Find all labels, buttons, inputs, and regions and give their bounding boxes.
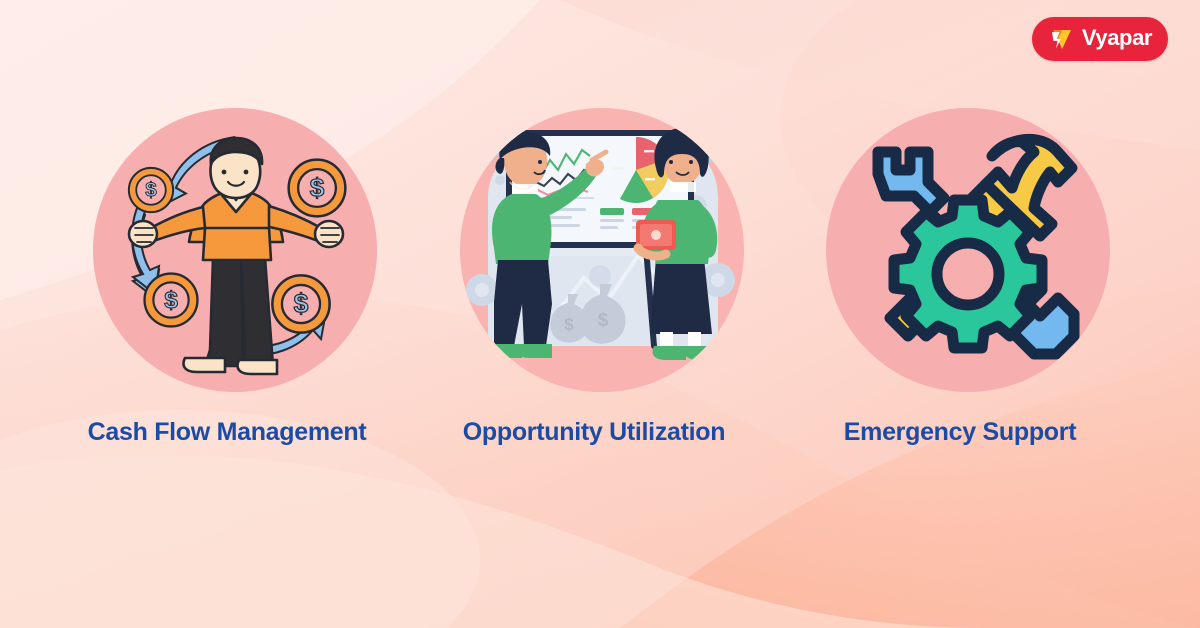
svg-text:$: $ [598, 310, 609, 331]
illustration-circle-opportunity: $ $ [460, 108, 744, 392]
vyapar-logo-text: Vyapar [1082, 27, 1152, 51]
gear-center-icon [894, 200, 1042, 348]
coin-top-right [289, 160, 346, 217]
illustration-circle-emergency [826, 108, 1110, 392]
feature-label-opportunity-utilization: Opportunity Utilization [452, 418, 736, 447]
gear-decor-left [466, 274, 498, 306]
feature-label-emergency-support: Emergency Support [818, 418, 1102, 447]
svg-text:$: $ [564, 315, 574, 334]
vyapar-logo-mark-icon [1048, 26, 1075, 53]
feature-card-opportunity-utilization[interactable]: $ $ [460, 108, 744, 392]
coin-top-left [129, 168, 173, 212]
coin-bottom-right [272, 275, 329, 332]
illustration-circle-cash-flow: $ [93, 108, 377, 392]
feature-card-emergency-support[interactable]: Emergency Support [826, 108, 1110, 392]
vyapar-logo[interactable]: Vyapar [1032, 17, 1168, 61]
feature-label-cash-flow-management: Cash Flow Management [85, 418, 369, 447]
feature-card-cash-flow-management[interactable]: $ [93, 108, 377, 392]
infographic-canvas: Vyapar $ [0, 0, 1200, 628]
coin-bottom-left [145, 274, 198, 327]
